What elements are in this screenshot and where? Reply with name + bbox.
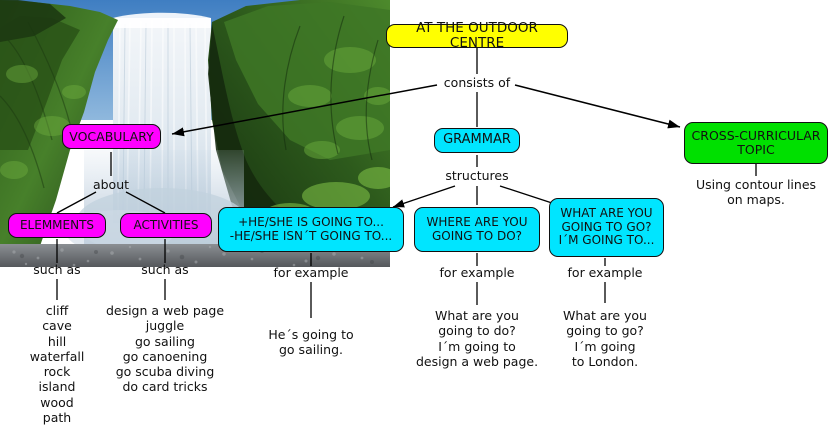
connector-label-such-as-activities: such as — [125, 262, 205, 277]
node-root-label: AT THE OUTDOOR CENTRE — [387, 21, 567, 51]
node-vocabulary-label: VOCABULARY — [69, 130, 154, 144]
leaf-what-example: What are you going to go? I´m going to L… — [549, 308, 661, 369]
leaf-where-example: What are you going to do? I´m going to d… — [409, 308, 545, 369]
node-grammar[interactable]: GRAMMAR — [434, 128, 520, 153]
connector-label-such-as-elemments: such as — [17, 262, 97, 277]
node-where-are-you-going-to-do-label: WHERE ARE YOU GOING TO DO? — [426, 216, 527, 243]
node-where-are-you-going-to-do[interactable]: WHERE ARE YOU GOING TO DO? — [414, 207, 540, 252]
node-activities[interactable]: ACTIVITIES — [120, 213, 212, 238]
node-elemments-label: ELEMMENTS — [20, 219, 94, 232]
node-cross-curricular-topic-label: CROSS-CURRICULAR TOPIC — [692, 129, 821, 157]
node-what-are-you-going-to-go-label: WHAT ARE YOU GOING TO GO? I´M GOING TO..… — [559, 207, 655, 247]
leaf-elemments-list: cliff cave hill waterfall rock island wo… — [7, 303, 107, 425]
node-grammar-label: GRAMMAR — [443, 133, 511, 148]
connector-label-for-example-where: for example — [434, 265, 520, 280]
node-what-are-you-going-to-go[interactable]: WHAT ARE YOU GOING TO GO? I´M GOING TO..… — [549, 198, 664, 257]
connector-label-about: about — [71, 177, 151, 192]
connector-label-consists-of: consists of — [427, 75, 527, 90]
connector-label-structures: structures — [437, 168, 517, 183]
leaf-activities-list: design a web page juggle go sailing go c… — [98, 303, 232, 395]
node-root-at-the-outdoor-centre[interactable]: AT THE OUTDOOR CENTRE — [386, 24, 568, 48]
node-going-to-affirmative-negative-label: +HE/SHE IS GOING TO... -HE/SHE ISN´T GOI… — [230, 216, 392, 243]
mind-map-canvas: AT THE OUTDOOR CENTRE VOCABULARY GRAMMAR… — [0, 0, 830, 431]
node-cross-curricular-topic[interactable]: CROSS-CURRICULAR TOPIC — [684, 122, 828, 164]
node-vocabulary[interactable]: VOCABULARY — [62, 124, 161, 149]
node-going-to-affirmative-negative[interactable]: +HE/SHE IS GOING TO... -HE/SHE ISN´T GOI… — [218, 207, 404, 252]
leaf-going-to-example: He´s going to go sailing. — [251, 327, 371, 358]
connector-label-for-example-what: for example — [562, 265, 648, 280]
node-activities-label: ACTIVITIES — [133, 219, 198, 232]
leaf-cross-curricular-note: Using contour lines on maps. — [686, 177, 826, 208]
connector-label-for-example-going-to: for example — [268, 265, 354, 280]
node-elemments[interactable]: ELEMMENTS — [8, 213, 106, 238]
